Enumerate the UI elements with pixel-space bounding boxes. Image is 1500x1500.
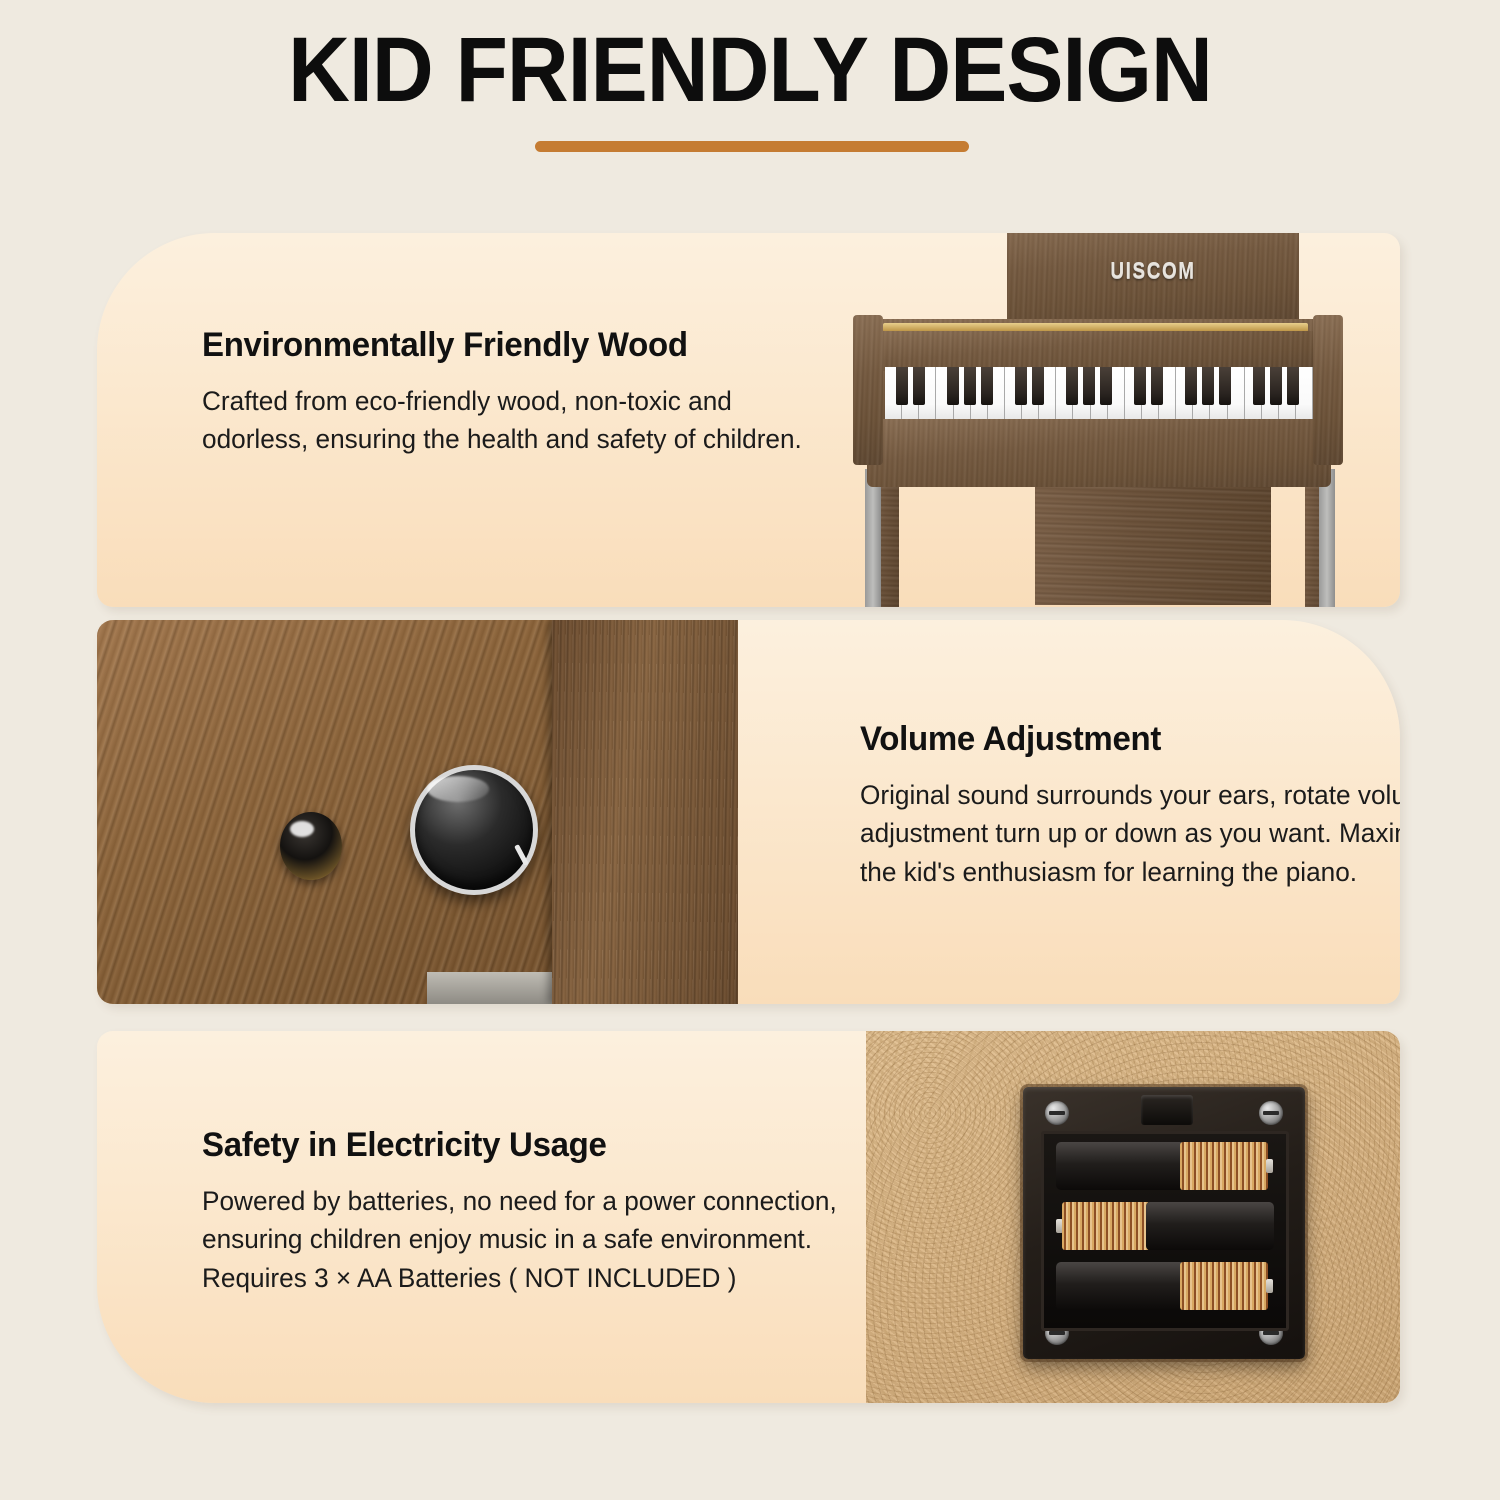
battery-compartment-photo <box>866 1031 1400 1403</box>
piano-black-key <box>981 367 993 405</box>
screw-top-left <box>1045 1101 1069 1125</box>
piano-foot-left <box>865 469 881 607</box>
piano-front-panel <box>867 419 1331 487</box>
feature-description: Powered by batteries, no need for a powe… <box>202 1182 881 1297</box>
piano-music-rest: UISCOM <box>1007 233 1299 324</box>
aa-battery-2 <box>1056 1202 1274 1250</box>
audio-jack <box>280 812 342 880</box>
battery-terminal <box>1266 1159 1273 1173</box>
battery-cap <box>1180 1142 1268 1190</box>
feature-card-battery-safety: Safety in Electricity Usage Powered by b… <box>97 1031 1400 1403</box>
feature-text-block: Environmentally Friendly Wood Crafted fr… <box>202 326 822 459</box>
knob-highlight <box>427 776 489 802</box>
feature-description: Crafted from eco-friendly wood, non-toxi… <box>202 382 803 459</box>
piano-black-key <box>1151 367 1163 405</box>
piano-black-key <box>1219 367 1231 405</box>
piano-black-key <box>1015 367 1027 405</box>
piano-black-key <box>1066 367 1078 405</box>
piano-black-key <box>1185 367 1197 405</box>
piano-black-key <box>1032 367 1044 405</box>
piano-black-key <box>896 367 908 405</box>
piano-black-key <box>1202 367 1214 405</box>
feature-heading: Environmentally Friendly Wood <box>202 326 803 365</box>
aa-battery-1 <box>1056 1142 1274 1190</box>
wood-column <box>552 620 738 1004</box>
volume-knob <box>410 765 538 895</box>
battery-body <box>1056 1142 1184 1190</box>
page-title: KID FRIENDLY DESIGN <box>53 22 1448 119</box>
feature-heading: Volume Adjustment <box>860 720 1400 759</box>
piano-black-keys <box>885 367 1313 405</box>
battery-body <box>1146 1202 1274 1250</box>
jack-highlight <box>290 821 314 837</box>
piano-key-shelf <box>871 331 1323 371</box>
piano-foot-right <box>1319 469 1335 607</box>
brand-logo: UISCOM <box>1033 257 1272 284</box>
piano-side-block-left <box>853 315 883 465</box>
aa-battery-3 <box>1056 1262 1274 1310</box>
feature-text-block: Safety in Electricity Usage Powered by b… <box>202 1126 902 1297</box>
piano-black-key <box>1270 367 1282 405</box>
title-accent-rule <box>535 141 969 152</box>
battery-cap <box>1180 1262 1268 1310</box>
piano-black-key <box>913 367 925 405</box>
toy-piano-photo: UISCOM <box>757 233 1397 607</box>
piano-black-key <box>1253 367 1265 405</box>
piano-side-block-right <box>1313 315 1343 465</box>
feature-card-eco-wood: Environmentally Friendly Wood Crafted fr… <box>97 233 1400 607</box>
feature-card-volume: Volume Adjustment Original sound surroun… <box>97 620 1400 1004</box>
floor-edge <box>427 972 557 1004</box>
battery-body <box>1056 1262 1184 1310</box>
piano-black-key <box>947 367 959 405</box>
battery-compartment-plate <box>1023 1087 1305 1359</box>
piano-black-key <box>1083 367 1095 405</box>
piano-black-key <box>1134 367 1146 405</box>
piano-black-key <box>1100 367 1112 405</box>
battery-cap <box>1062 1202 1150 1250</box>
page-header: KID FRIENDLY DESIGN <box>0 0 1500 195</box>
battery-door-latch <box>1141 1095 1193 1125</box>
volume-knob-photo <box>97 620 738 1004</box>
feature-description: Original sound surrounds your ears, rota… <box>860 776 1400 891</box>
battery-terminal <box>1266 1279 1273 1293</box>
battery-bay <box>1041 1131 1289 1331</box>
feature-heading: Safety in Electricity Usage <box>202 1126 881 1165</box>
screw-top-right <box>1259 1101 1283 1125</box>
piano-black-key <box>1287 367 1299 405</box>
feature-text-block: Volume Adjustment Original sound surroun… <box>860 720 1400 891</box>
piano-black-key <box>964 367 976 405</box>
